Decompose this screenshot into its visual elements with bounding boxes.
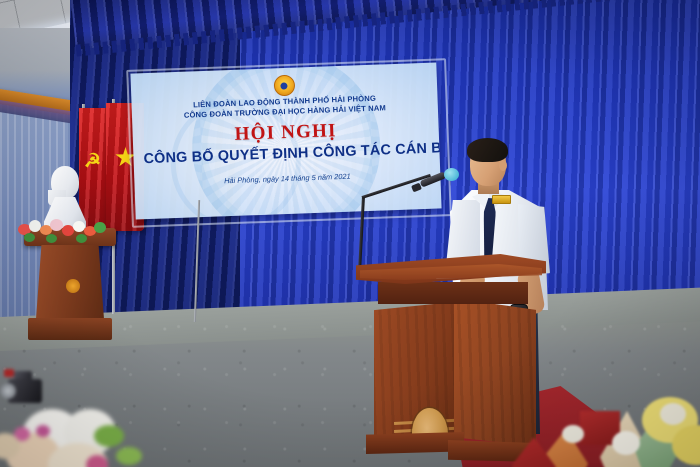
speaker-ear: [499, 160, 507, 171]
pedestal-flower-arrangement: [16, 216, 112, 246]
lectern-neck: [378, 282, 528, 304]
foreground-flowers-left: [0, 377, 200, 467]
conference-photo: ☭ LIÊN ĐOÀN LAO ĐỘNG THÀNH PHỐ H: [0, 0, 700, 467]
speaker-hair: [467, 138, 508, 162]
banner-date-line: Hải Phòng, ngày 14 tháng 5 năm 2021: [144, 169, 430, 188]
pedestal-emblem-icon: [66, 279, 80, 293]
lectern-front-panel: [374, 302, 454, 437]
lectern: [356, 254, 546, 459]
foreground-bouquets-right: [522, 379, 700, 467]
speaker-name-badge: [492, 195, 511, 204]
trade-union-emblem-icon: [273, 75, 295, 97]
camera-indicator-icon: [4, 369, 14, 377]
pedestal-base: [28, 318, 112, 340]
pedestal-body: [36, 245, 104, 319]
event-banner: LIÊN ĐOÀN LAO ĐỘNG THÀNH PHỐ HẢI PHÒNG C…: [130, 62, 441, 219]
